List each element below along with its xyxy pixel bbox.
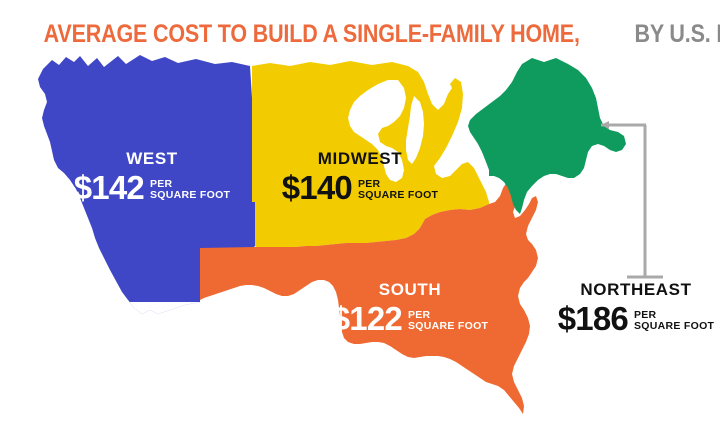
region-label-midwest[interactable]: MIDWEST $140 PER SQUARE FOOT <box>276 150 444 203</box>
region-unit-south: PER SQUARE FOOT <box>408 310 488 334</box>
region-name-northeast: NORTHEAST <box>552 281 720 298</box>
northeast-leader-line <box>0 52 720 432</box>
region-label-west[interactable]: WEST $142 PER SQUARE FOOT <box>62 150 242 203</box>
region-label-south[interactable]: SOUTH $122 PER SQUARE FOOT <box>326 281 494 334</box>
region-value-northeast: $186 PER SQUARE FOOT <box>552 304 720 334</box>
region-unit-line2-south: SQUARE FOOT <box>408 321 488 332</box>
title-subtitle-text: BY U.S. REGION <box>635 20 720 49</box>
region-amount-west: $142 <box>74 173 144 203</box>
region-unit-northeast: PER SQUARE FOOT <box>634 310 714 334</box>
us-region-map <box>0 52 720 432</box>
region-unit-west: PER SQUARE FOOT <box>150 179 230 203</box>
title-main-text: AVERAGE COST TO BUILD A SINGLE-FAMILY HO… <box>44 20 580 49</box>
region-amount-northeast: $186 <box>558 304 628 334</box>
region-value-south: $122 PER SQUARE FOOT <box>326 304 494 334</box>
region-name-south: SOUTH <box>326 281 494 298</box>
region-value-west: $142 PER SQUARE FOOT <box>62 173 242 203</box>
region-label-northeast[interactable]: NORTHEAST $186 PER SQUARE FOOT <box>552 281 720 334</box>
region-name-west: WEST <box>62 150 242 167</box>
region-unit-line2-northeast: SQUARE FOOT <box>634 321 714 332</box>
region-amount-south: $122 <box>332 304 402 334</box>
region-amount-midwest: $140 <box>282 173 352 203</box>
region-value-midwest: $140 PER SQUARE FOOT <box>276 173 444 203</box>
region-unit-line2-west: SQUARE FOOT <box>150 190 230 201</box>
page-title: AVERAGE COST TO BUILD A SINGLE-FAMILY HO… <box>0 20 720 54</box>
region-unit-line2-midwest: SQUARE FOOT <box>358 190 438 201</box>
region-unit-midwest: PER SQUARE FOOT <box>358 179 438 203</box>
region-name-midwest: MIDWEST <box>276 150 444 167</box>
